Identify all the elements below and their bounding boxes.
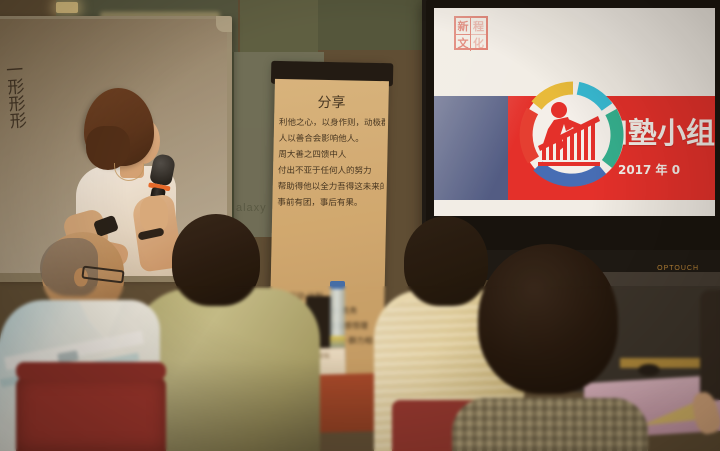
seal-char-4: 化 [471, 35, 486, 51]
tv-bezel: 新 程 文 化 盛和塾小组 2017 年 0 [426, 0, 720, 250]
flipchart-line: 利他之心，以身作则，动极群 [279, 115, 385, 131]
glass-signage-text: alaxy [236, 202, 267, 214]
tv-brand-label: OPTOUCH [657, 265, 699, 272]
seal-stamp-icon: 新 程 文 化 [454, 16, 488, 50]
glass-panel-upper-mid [240, 0, 318, 52]
whiteboard-corner [216, 16, 232, 32]
whiteboard-handwriting: 一形形形 [0, 60, 28, 130]
red-chair-front [16, 376, 166, 451]
flipchart-line: 人以善合会影响他人。 [279, 131, 385, 147]
foreground-head [478, 244, 618, 394]
far-right-person-shoulder [700, 290, 720, 400]
console-object [638, 364, 660, 376]
flipchart-line: 帮助得他以全力吾得这未来的 [278, 179, 384, 195]
olive-shirt-head [172, 214, 260, 306]
slide: 新 程 文 化 盛和塾小组 2017 年 0 [434, 8, 715, 216]
ceiling-light [56, 2, 78, 13]
flipchart-line: 事前有团，事后有果。 [277, 195, 383, 211]
flipchart-line: 付出不亚于任何人的努力 [278, 163, 384, 179]
glass-panel-upper-right [318, 0, 422, 50]
flipchart-notes: 利他之心，以身作则，动极群 人以善合会影响他人。 周大善之四馈中人 付出不亚于任… [277, 115, 385, 213]
running-figure-growth-chart-logo-icon [512, 74, 634, 196]
chair-backrest-rail [16, 362, 166, 380]
presenter-hand [140, 196, 168, 232]
seal-char-2: 程 [471, 18, 486, 35]
flipchart-heading: 分享 [274, 92, 388, 113]
bottle-cap [330, 281, 345, 289]
seminar-room-photo: alaxy 一形形形 △ ℓ 新 程 文 化 [0, 0, 720, 451]
flipchart-line: 周大善之四馈中人 [278, 147, 384, 163]
seal-char-1: 新 [456, 18, 471, 35]
yellow-shirt-head [404, 216, 488, 306]
foreground-checkered-shirt [452, 398, 648, 451]
slide-band-blue [434, 96, 508, 200]
seal-char-3: 文 [456, 35, 471, 51]
